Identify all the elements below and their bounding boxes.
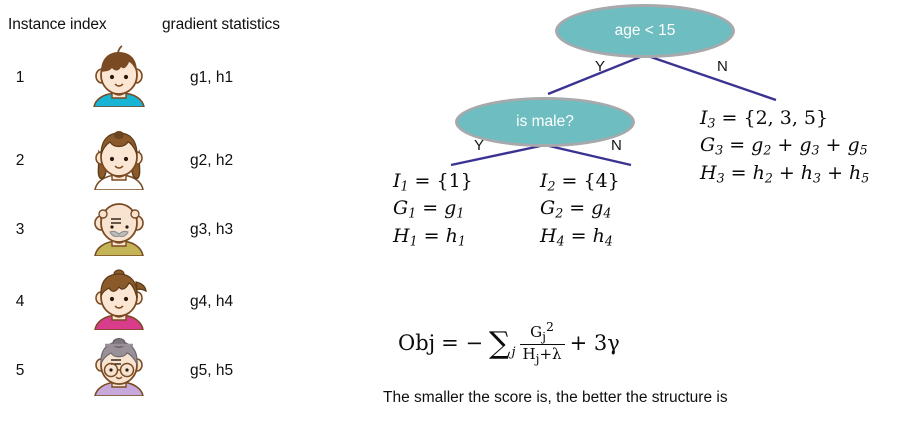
gradient-statistics-header: gradient statistics — [162, 16, 280, 34]
leaf1-line-I: I1 = {1} — [393, 168, 473, 195]
row-stats-3: g3, h3 — [190, 221, 233, 239]
row-index-5: 5 — [0, 362, 40, 380]
edge-label-male-no: N — [611, 137, 622, 154]
edge-label-root-yes: Y — [595, 58, 605, 75]
objective-equals: = − — [441, 331, 483, 355]
tree-node-root-label: age < 15 — [615, 22, 676, 40]
fraction-numerator-base: G — [530, 323, 542, 341]
objective-formula: Obj = − ∑ j Gj2 Hj+λ + 3γ — [398, 320, 620, 366]
tree-node-is-male-label: is male? — [516, 113, 574, 131]
tree-node-root[interactable]: age < 15 — [555, 4, 735, 58]
objective-lhs: Obj — [398, 331, 435, 355]
row-index-1: 1 — [0, 69, 40, 87]
edge-label-male-yes: Y — [474, 137, 484, 154]
slide-canvas: Instance index gradient statistics 1 g1,… — [0, 0, 920, 421]
leaf2-line-H: H4 = h4 — [540, 223, 620, 250]
row-stats-5: g5, h5 — [190, 362, 233, 380]
leaf2-line-G: G2 = g4 — [540, 195, 620, 222]
row-stats-4: g4, h4 — [190, 293, 233, 311]
boy-brown-hair-teal-shirt-avatar — [88, 45, 150, 107]
leaf-stats-group-1: I1 = {1} G1 = g1 H1 = h1 — [393, 168, 473, 250]
leaf3-line-H: H3 = h2 + h3 + h5 — [700, 160, 869, 187]
objective-tail: + 3γ — [570, 331, 620, 355]
row-index-4: 4 — [0, 293, 40, 311]
objective-fraction: Gj2 Hj+λ — [520, 320, 565, 366]
girl-braids-white-dress-avatar — [88, 128, 150, 190]
old-man-mustache-olive-shirt-avatar — [88, 194, 150, 256]
caption-text: The smaller the score is, the better the… — [383, 389, 728, 407]
row-index-2: 2 — [0, 152, 40, 170]
leaf-stats-group-3: I3 = {2, 3, 5} G3 = g2 + g3 + g5 H3 = h2… — [700, 105, 869, 187]
leaf2-line-I: I2 = {4} — [540, 168, 620, 195]
girl-ponytail-pink-shirt-avatar — [88, 268, 150, 330]
summation-index: j — [511, 345, 515, 360]
row-stats-2: g2, h2 — [190, 152, 233, 170]
leaf3-line-I: I3 = {2, 3, 5} — [700, 105, 869, 132]
leaf1-line-G: G1 = g1 — [393, 195, 473, 222]
row-index-3: 3 — [0, 221, 40, 239]
leaf1-line-H: H1 = h1 — [393, 223, 473, 250]
edge-label-root-no: N — [717, 58, 728, 75]
fraction-denominator-base: H — [523, 345, 536, 363]
instance-index-header: Instance index — [8, 16, 107, 34]
summation-symbol: ∑ — [489, 332, 510, 356]
row-stats-1: g1, h1 — [190, 69, 233, 87]
leaf-stats-group-2: I2 = {4} G2 = g4 H4 = h4 — [540, 168, 620, 250]
old-woman-glasses-purple-shirt-avatar — [88, 334, 150, 396]
leaf3-line-G: G3 = g2 + g3 + g5 — [700, 132, 869, 159]
